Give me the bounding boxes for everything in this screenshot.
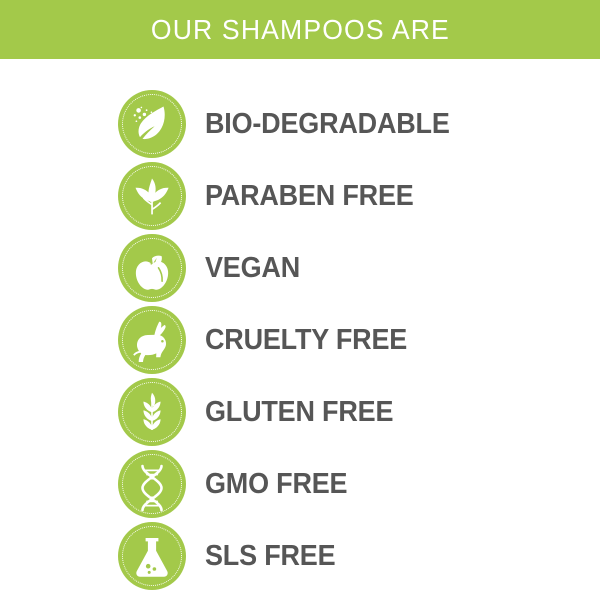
list-item-label: VEGAN [205, 254, 300, 283]
wheat-icon [118, 378, 186, 446]
benefit-badge [118, 378, 186, 446]
benefit-badge [118, 234, 186, 302]
list-item-label: BIO-DEGRADABLE [205, 110, 450, 139]
header-banner: OUR SHAMPOOS ARE [0, 0, 600, 59]
benefits-list: BIO-DEGRADABLE [0, 59, 600, 600]
benefit-badge [118, 162, 186, 230]
list-item-label: PARABEN FREE [205, 182, 414, 211]
list-item: GLUTEN FREE [0, 376, 600, 448]
leaves-branch-icon [118, 162, 186, 230]
leaf-bubbles-icon [118, 90, 186, 158]
list-item: PARABEN FREE [0, 160, 600, 232]
list-item-label: SLS FREE [205, 542, 335, 571]
benefit-badge [118, 90, 186, 158]
dna-helix-icon [118, 450, 186, 518]
shampoo-benefits-poster: OUR SHAMPOOS ARE [0, 0, 600, 600]
rabbit-icon [118, 306, 186, 374]
list-item: CRUELTY FREE [0, 304, 600, 376]
benefit-badge [118, 450, 186, 518]
list-item: GMO FREE [0, 448, 600, 520]
benefit-badge [118, 306, 186, 374]
list-item: VEGAN [0, 232, 600, 304]
page-title: OUR SHAMPOOS ARE [150, 16, 449, 44]
benefit-badge [118, 522, 186, 590]
list-item-label: GLUTEN FREE [205, 398, 393, 427]
list-item-label: CRUELTY FREE [205, 326, 407, 355]
list-item-label: GMO FREE [205, 470, 347, 499]
list-item: BIO-DEGRADABLE [0, 88, 600, 160]
apple-icon [118, 234, 186, 302]
list-item: SLS FREE [0, 520, 600, 592]
flask-icon [118, 522, 186, 590]
